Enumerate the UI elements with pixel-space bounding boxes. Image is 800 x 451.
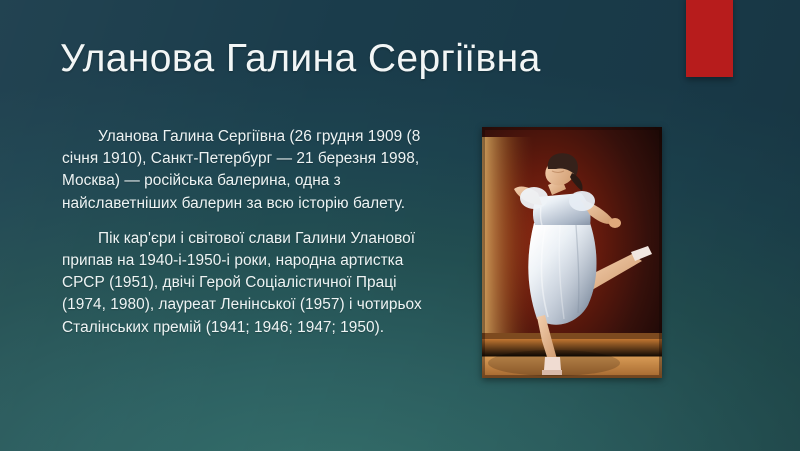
body-paragraph-2: Пік кар'єри і світової слави Галини Улан…: [62, 228, 444, 339]
body-paragraph-1: Уланова Галина Сергіївна (26 грудня 1909…: [62, 126, 444, 215]
ballerina-photo: Портрет балерини Галини Уланової у білій…: [482, 127, 662, 378]
ballerina-photo-illustration: [482, 127, 662, 378]
slide-body-text: Уланова Галина Сергіївна (26 грудня 1909…: [62, 126, 444, 339]
presentation-slide: Уланова Галина Сергіївна Уланова Галина …: [0, 0, 800, 451]
slide-title: Уланова Галина Сергіївна: [60, 36, 700, 82]
